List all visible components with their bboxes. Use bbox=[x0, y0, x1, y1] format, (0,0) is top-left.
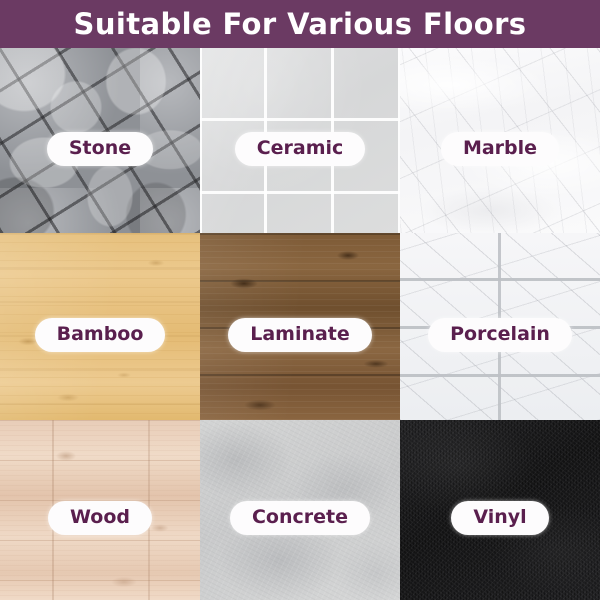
floor-cell-wood[interactable]: Wood bbox=[0, 420, 200, 600]
floor-cell-concrete[interactable]: Concrete bbox=[200, 420, 400, 600]
floor-cell-bamboo[interactable]: Bamboo bbox=[0, 233, 200, 420]
floor-label-vinyl: Vinyl bbox=[451, 501, 548, 535]
floor-label-concrete: Concrete bbox=[230, 501, 370, 535]
floor-label-marble: Marble bbox=[441, 132, 559, 166]
page-title: Suitable For Various Floors bbox=[74, 10, 527, 39]
floor-label-ceramic: Ceramic bbox=[235, 132, 366, 166]
floor-cell-porcelain[interactable]: Porcelain bbox=[400, 233, 600, 420]
floor-cell-stone[interactable]: Stone bbox=[0, 48, 200, 233]
floor-cell-marble[interactable]: Marble bbox=[400, 48, 600, 233]
floor-label-bamboo: Bamboo bbox=[35, 318, 166, 352]
floor-label-laminate: Laminate bbox=[228, 318, 372, 352]
floor-cell-ceramic[interactable]: Ceramic bbox=[200, 48, 400, 233]
floor-label-stone: Stone bbox=[47, 132, 153, 166]
floor-cell-vinyl[interactable]: Vinyl bbox=[400, 420, 600, 600]
floor-label-wood: Wood bbox=[48, 501, 152, 535]
floor-types-infographic: Suitable For Various Floors Stone Cerami… bbox=[0, 0, 600, 600]
floor-type-grid: Stone Ceramic Marble Bamboo Laminate Por… bbox=[0, 48, 600, 600]
floor-cell-laminate[interactable]: Laminate bbox=[200, 233, 400, 420]
floor-label-porcelain: Porcelain bbox=[428, 318, 572, 352]
header-banner: Suitable For Various Floors bbox=[0, 0, 600, 48]
